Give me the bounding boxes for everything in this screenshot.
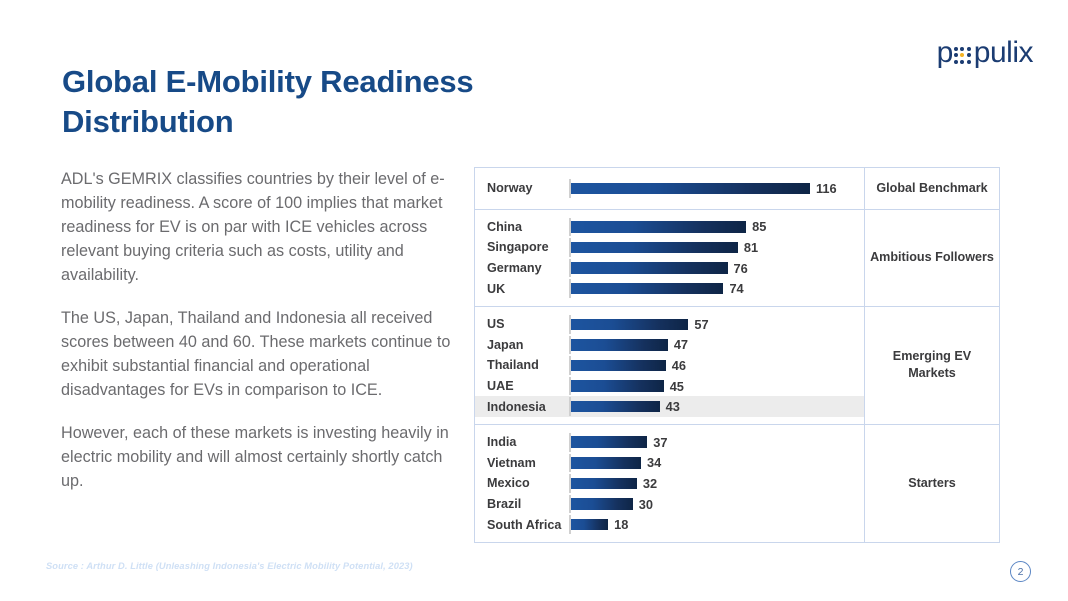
chart-group-rows: Norway116 — [475, 168, 865, 209]
logo-text-left: p — [937, 38, 953, 68]
country-label: UAE — [487, 379, 569, 393]
chart-row: UK74 — [475, 278, 864, 299]
country-label: Brazil — [487, 497, 569, 511]
source-note: Source : Arthur D. Little (Unleashing In… — [46, 561, 413, 571]
axis-line — [569, 238, 571, 257]
value-bar — [571, 380, 664, 392]
value-bar — [571, 519, 608, 531]
bar-value-label: 116 — [816, 181, 837, 196]
country-label: China — [487, 220, 569, 234]
chart-row: Japan47 — [475, 335, 864, 356]
axis-line — [569, 279, 571, 298]
category-label: Emerging EV Markets — [865, 307, 999, 424]
axis-line — [569, 336, 571, 355]
bar-area: 85 — [569, 217, 864, 238]
chart-group: India37Vietnam34Mexico32Brazil30South Af… — [475, 425, 999, 542]
bar-area: 46 — [569, 355, 864, 376]
bar-area: 74 — [569, 278, 864, 299]
bar-area: 32 — [569, 473, 864, 494]
country-label: Mexico — [487, 476, 569, 490]
bar-value-label: 57 — [694, 317, 708, 332]
country-label: Norway — [487, 181, 569, 195]
chart-row: India37 — [475, 432, 864, 453]
category-label: Global Benchmark — [865, 168, 999, 209]
bar-value-label: 32 — [643, 476, 657, 491]
bar-area: 18 — [569, 514, 864, 535]
page-number-badge: 2 — [1010, 561, 1031, 582]
chart-group-rows: India37Vietnam34Mexico32Brazil30South Af… — [475, 425, 865, 542]
chart-row: Norway116 — [475, 178, 864, 199]
value-bar — [571, 401, 660, 413]
bar-value-label: 37 — [653, 435, 667, 450]
chart-row: Indonesia43 — [475, 396, 864, 417]
logo-dot-matrix-icon — [954, 47, 971, 64]
axis-line — [569, 515, 571, 534]
country-label: Vietnam — [487, 456, 569, 470]
chart-row: China85 — [475, 217, 864, 238]
bar-area: 30 — [569, 494, 864, 515]
country-label: UK — [487, 282, 569, 296]
chart-group: China85Singapore81Germany76UK74Ambitious… — [475, 210, 999, 307]
bar-area: 81 — [569, 237, 864, 258]
bar-area: 47 — [569, 335, 864, 356]
country-label: South Africa — [487, 518, 569, 532]
axis-line — [569, 259, 571, 278]
logo-text-right: pulix — [974, 38, 1033, 68]
country-label: Germany — [487, 261, 569, 275]
bar-value-label: 43 — [666, 399, 680, 414]
chart-row: Vietnam34 — [475, 453, 864, 474]
value-bar — [571, 183, 810, 195]
bar-area: 43 — [569, 396, 864, 417]
axis-line — [569, 315, 571, 334]
axis-line — [569, 179, 571, 198]
axis-line — [569, 474, 571, 493]
axis-line — [569, 377, 571, 396]
country-label: Japan — [487, 338, 569, 352]
bar-value-label: 85 — [752, 219, 766, 234]
bar-value-label: 46 — [672, 358, 686, 373]
value-bar — [571, 457, 641, 469]
paragraph-2: The US, Japan, Thailand and Indonesia al… — [61, 307, 461, 403]
chart-row: US57 — [475, 314, 864, 335]
slide: p pulix Global E-Mobility Readiness Dist… — [0, 0, 1068, 601]
category-label: Starters — [865, 425, 999, 542]
paragraph-1: ADL's GEMRIX classifies countries by the… — [61, 168, 461, 288]
bar-value-label: 74 — [729, 281, 743, 296]
value-bar — [571, 283, 723, 295]
chart-row: Singapore81 — [475, 237, 864, 258]
bar-value-label: 30 — [639, 497, 653, 512]
chart-group-rows: China85Singapore81Germany76UK74 — [475, 210, 865, 306]
value-bar — [571, 436, 647, 448]
country-label: Singapore — [487, 240, 569, 254]
axis-line — [569, 454, 571, 473]
chart-row: South Africa18 — [475, 514, 864, 535]
bar-value-label: 76 — [734, 261, 748, 276]
bar-area: 34 — [569, 453, 864, 474]
chart-group-rows: US57Japan47Thailand46UAE45Indonesia43 — [475, 307, 865, 424]
value-bar — [571, 262, 728, 274]
page-title: Global E-Mobility Readiness Distribution — [62, 62, 492, 141]
readiness-chart-table: Norway116Global BenchmarkChina85Singapor… — [474, 167, 1000, 543]
paragraph-3: However, each of these markets is invest… — [61, 422, 461, 494]
bar-value-label: 47 — [674, 337, 688, 352]
chart-row: Mexico32 — [475, 473, 864, 494]
value-bar — [571, 478, 637, 490]
value-bar — [571, 498, 633, 510]
bar-area: 45 — [569, 376, 864, 397]
axis-line — [569, 495, 571, 514]
value-bar — [571, 360, 666, 372]
bar-area: 76 — [569, 258, 864, 279]
country-label: Thailand — [487, 358, 569, 372]
value-bar — [571, 339, 668, 351]
bar-value-label: 18 — [614, 517, 628, 532]
axis-line — [569, 397, 571, 416]
bar-value-label: 81 — [744, 240, 758, 255]
bar-area: 37 — [569, 432, 864, 453]
country-label: India — [487, 435, 569, 449]
value-bar — [571, 221, 746, 233]
chart-group: Norway116Global Benchmark — [475, 168, 999, 210]
chart-group: US57Japan47Thailand46UAE45Indonesia43Eme… — [475, 307, 999, 425]
chart-row: Germany76 — [475, 258, 864, 279]
bar-area: 57 — [569, 314, 864, 335]
value-bar — [571, 319, 688, 331]
body-copy: ADL's GEMRIX classifies countries by the… — [61, 168, 461, 494]
category-label: Ambitious Followers — [865, 210, 999, 306]
bar-value-label: 45 — [670, 379, 684, 394]
chart-row: UAE45 — [475, 376, 864, 397]
country-label: US — [487, 317, 569, 331]
axis-line — [569, 433, 571, 452]
chart-row: Thailand46 — [475, 355, 864, 376]
populix-logo: p pulix — [937, 38, 1033, 68]
country-label: Indonesia — [487, 400, 569, 414]
bar-area: 116 — [569, 178, 864, 199]
bar-value-label: 34 — [647, 455, 661, 470]
value-bar — [571, 242, 738, 254]
axis-line — [569, 218, 571, 237]
axis-line — [569, 356, 571, 375]
chart-row: Brazil30 — [475, 494, 864, 515]
